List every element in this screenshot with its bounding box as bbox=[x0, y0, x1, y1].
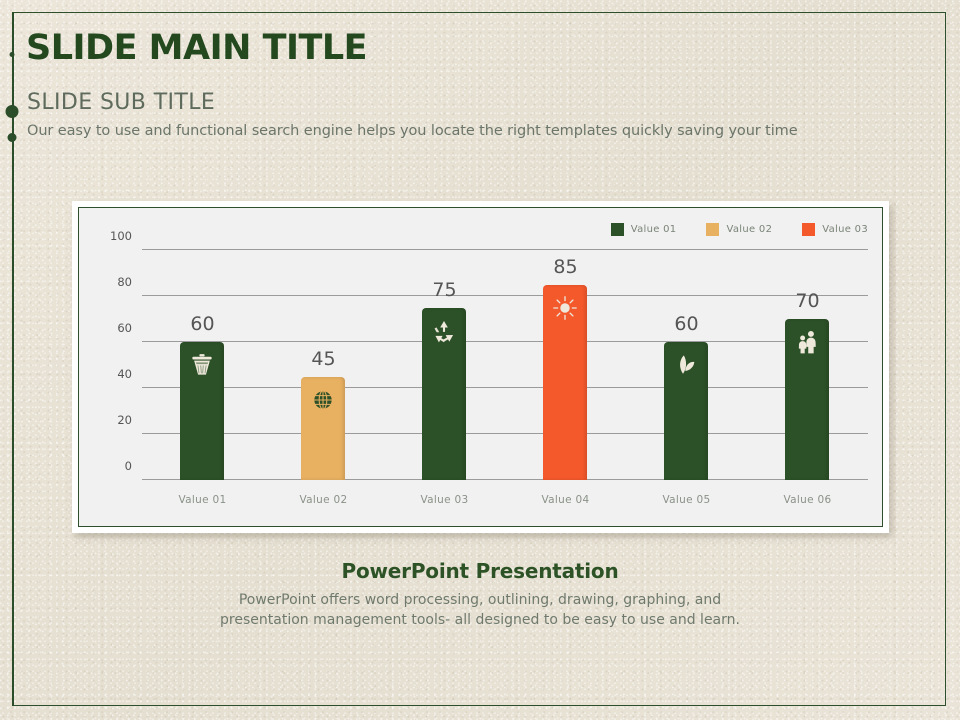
x-axis-label: Value 06 bbox=[747, 494, 868, 506]
accent-dot-large bbox=[6, 105, 19, 118]
bar-data-label: 85 bbox=[553, 256, 577, 278]
chart-bars: 60 bbox=[142, 250, 868, 480]
legend-item: Value 03 bbox=[802, 223, 868, 236]
footer-title: PowerPoint Presentation bbox=[0, 559, 960, 583]
bar-data-label: 75 bbox=[432, 279, 456, 301]
legend-swatch-icon bbox=[611, 223, 624, 236]
legend-swatch-icon bbox=[706, 223, 719, 236]
legend-item: Value 01 bbox=[611, 223, 677, 236]
x-axis-label: Value 01 bbox=[142, 494, 263, 506]
bar-data-label: 60 bbox=[674, 313, 698, 335]
bar-data-label: 60 bbox=[190, 313, 214, 335]
legend-label: Value 03 bbox=[822, 224, 868, 235]
bar-slot: 45 bbox=[263, 250, 384, 480]
page-subtitle: SLIDE SUB TITLE bbox=[27, 92, 215, 114]
bar-slot: 60 bbox=[142, 250, 263, 480]
x-axis-label: Value 04 bbox=[505, 494, 626, 506]
globe-icon bbox=[309, 386, 337, 414]
x-axis-label: Value 03 bbox=[384, 494, 505, 506]
bar-slot: 75 bbox=[384, 250, 505, 480]
legend-label: Value 01 bbox=[631, 224, 677, 235]
bar-value-06[interactable]: 70 bbox=[785, 319, 829, 480]
y-axis-tick-label: 20 bbox=[117, 413, 132, 427]
footer-description: PowerPoint offers word processing, outli… bbox=[195, 590, 765, 631]
x-axis-label: Value 02 bbox=[263, 494, 384, 506]
bar-slot: 60 bbox=[626, 250, 747, 480]
legend-swatch-icon bbox=[802, 223, 815, 236]
bar-value-04[interactable]: 85 bbox=[543, 285, 587, 481]
bar-slot: 70 bbox=[747, 250, 868, 480]
sun-icon bbox=[551, 294, 579, 322]
recycle-icon bbox=[430, 317, 458, 345]
page-description: Our easy to use and functional search en… bbox=[27, 124, 798, 139]
chart-x-axis-labels: Value 01 Value 02 Value 03 Value 04 Valu… bbox=[142, 494, 868, 506]
bar-value-02[interactable]: 45 bbox=[301, 377, 345, 481]
chart-legend: Value 01 Value 02 Value 03 bbox=[611, 223, 868, 236]
chart-panel: Value 01 Value 02 Value 03 0 20 40 bbox=[72, 201, 889, 533]
slide-background: SLIDE MAIN TITLE SLIDE SUB TITLE Our eas… bbox=[0, 0, 960, 720]
chart-plot-container: Value 01 Value 02 Value 03 0 20 40 bbox=[78, 207, 883, 527]
y-axis-tick-label: 0 bbox=[125, 459, 132, 473]
y-axis-tick-label: 60 bbox=[117, 321, 132, 335]
chart-plot-area: 0 20 40 60 80 100 60 bbox=[142, 250, 868, 480]
legend-item: Value 02 bbox=[706, 223, 772, 236]
x-axis-label: Value 05 bbox=[626, 494, 747, 506]
page-title: SLIDE MAIN TITLE bbox=[26, 31, 367, 66]
accent-dot-small-top bbox=[10, 52, 15, 57]
bar-value-05[interactable]: 60 bbox=[664, 342, 708, 480]
leaves-icon bbox=[672, 351, 700, 379]
bar-value-03[interactable]: 75 bbox=[422, 308, 466, 481]
y-axis-tick-label: 100 bbox=[110, 229, 132, 243]
bar-value-01[interactable]: 60 bbox=[180, 342, 224, 480]
people-family-icon bbox=[793, 328, 821, 356]
accent-dot-medium bbox=[8, 133, 17, 142]
bar-slot: 85 bbox=[505, 250, 626, 480]
legend-label: Value 02 bbox=[726, 224, 772, 235]
bar-data-label: 45 bbox=[311, 348, 335, 370]
trash-bin-icon bbox=[188, 351, 216, 379]
footer-line-2: management tools- all designed to be eas… bbox=[313, 612, 740, 628]
bar-data-label: 70 bbox=[795, 290, 819, 312]
y-axis-tick-label: 40 bbox=[117, 367, 132, 381]
y-axis-tick-label: 80 bbox=[117, 275, 132, 289]
